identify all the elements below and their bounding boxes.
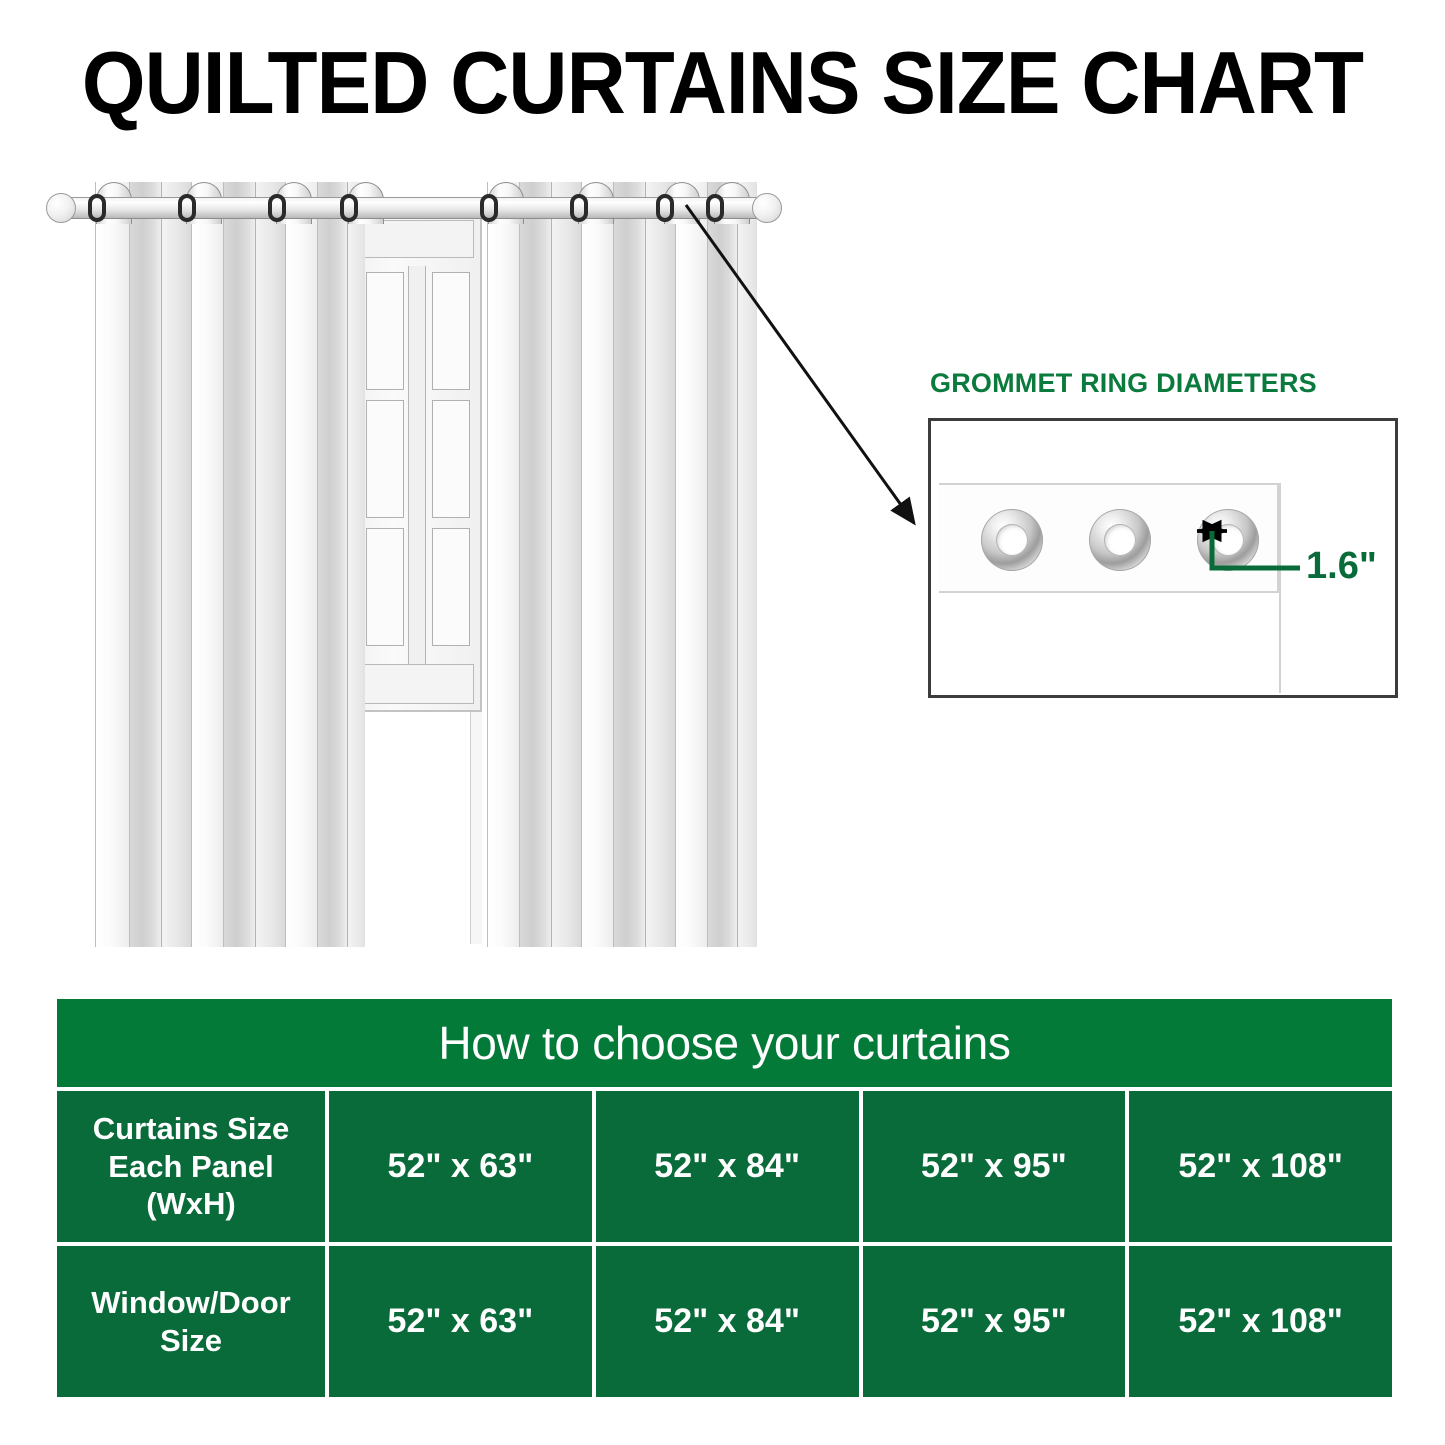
grommet-diameter-label: 1.6": [1306, 545, 1377, 588]
window-pane: [432, 272, 470, 390]
table-cell: 52" x 95": [863, 1091, 1126, 1242]
grommet-ring-icon: [706, 194, 724, 222]
curtain-panel-right: [487, 182, 757, 947]
grommet-ring-icon: [981, 509, 1043, 571]
table-cell: 52" x 108": [1129, 1246, 1392, 1397]
window-pane: [366, 272, 404, 390]
window-door-frame: [352, 212, 482, 712]
window-mullion: [408, 266, 426, 666]
grommet-ring-icon: [340, 194, 358, 222]
table-row: Window/Door Size 52" x 63" 52" x 84" 52"…: [57, 1246, 1392, 1397]
table-cell: 52" x 108": [1129, 1091, 1392, 1242]
curtain-panel-left: [95, 182, 365, 947]
grommet-ring-icon: [656, 194, 674, 222]
table-row: Curtains Size Each Panel (WxH) 52" x 63"…: [57, 1091, 1392, 1242]
grommet-ring-icon: [480, 194, 498, 222]
table-cell: 52" x 95": [863, 1246, 1126, 1397]
curtain-rod-finial-left: [46, 193, 76, 223]
size-table: How to choose your curtains Curtains Siz…: [57, 999, 1392, 1397]
window-pane: [432, 528, 470, 646]
table-cell: 52" x 84": [596, 1246, 859, 1397]
grommet-detail-heading: GROMMET RING DIAMETERS: [930, 368, 1400, 399]
window-pane: [366, 400, 404, 518]
window-footer-panel: [360, 664, 474, 704]
row-label-curtains-size: Curtains Size Each Panel (WxH): [57, 1091, 325, 1242]
grommet-ring-icon: [1197, 509, 1259, 571]
table-header: How to choose your curtains: [57, 999, 1392, 1087]
grommet-ring-icon: [178, 194, 196, 222]
page-title: QUILTED CURTAINS SIZE CHART: [51, 32, 1395, 134]
grommet-ring-icon: [88, 194, 106, 222]
window-leg-right: [470, 712, 482, 944]
grommet-band-divider: [1279, 483, 1281, 693]
curtain-rod-finial-right: [752, 193, 782, 223]
size-chart-page: QUILTED CURTAINS SIZE CHART: [0, 0, 1445, 1445]
table-cell: 52" x 63": [329, 1246, 592, 1397]
window-header-panel: [360, 220, 474, 258]
table-cell: 52" x 63": [329, 1091, 592, 1242]
grommet-ring-icon: [570, 194, 588, 222]
row-label-window-door-size: Window/Door Size: [57, 1246, 325, 1397]
window-pane: [432, 400, 470, 518]
grommet-ring-icon: [268, 194, 286, 222]
grommet-ring-icon: [1089, 509, 1151, 571]
table-cell: 52" x 84": [596, 1091, 859, 1242]
window-pane: [366, 528, 404, 646]
